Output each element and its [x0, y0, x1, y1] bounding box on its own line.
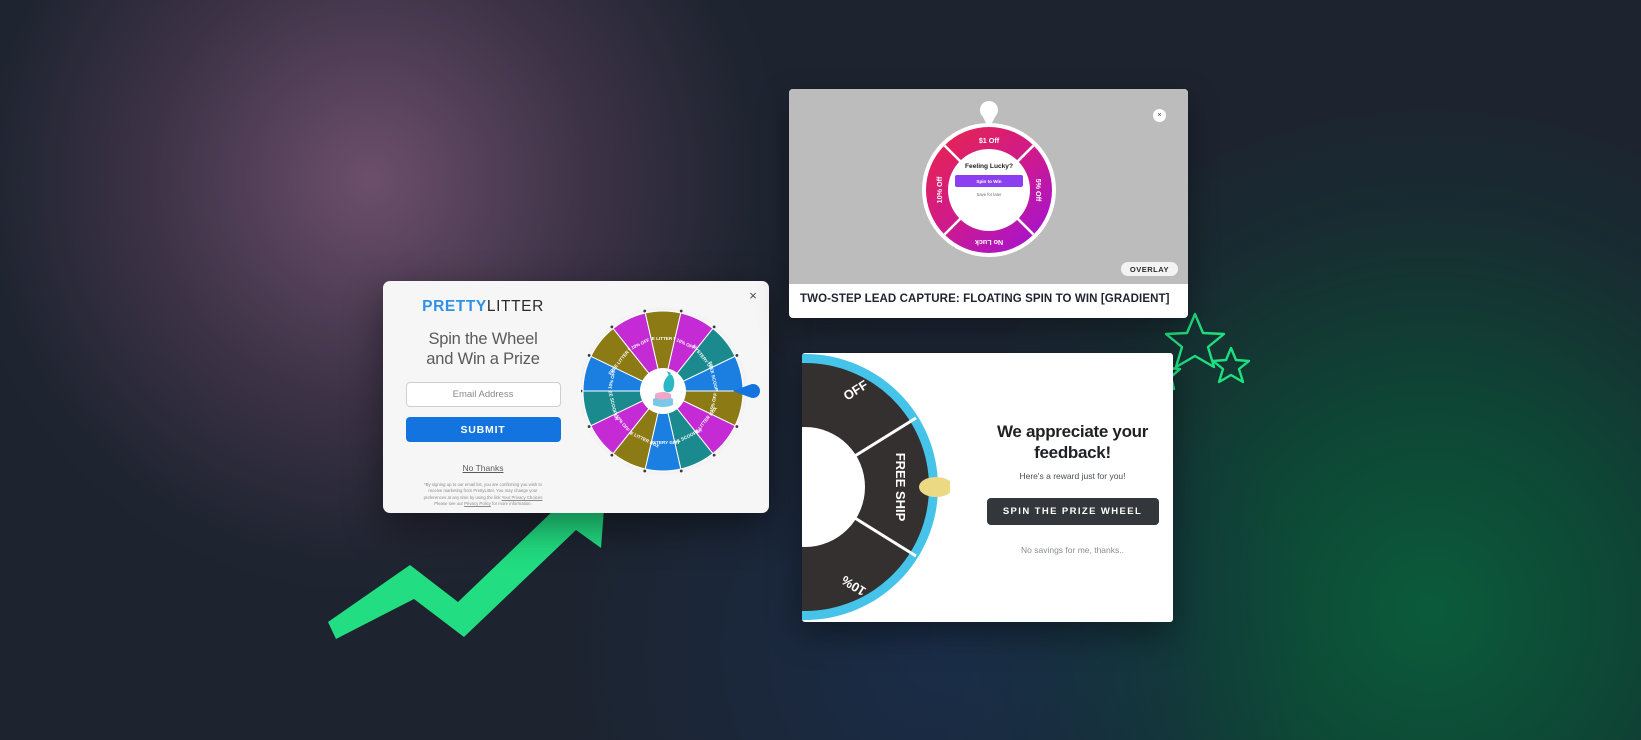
heading-line-1: Spin the Wheel — [397, 329, 569, 349]
wheel-rim-dot — [735, 354, 738, 357]
logo-text-pretty: PRETTY — [422, 298, 487, 315]
privacy-policy-link[interactable]: Privacy Policy — [464, 501, 491, 506]
fine-print: *By signing up to our email list, you ar… — [397, 482, 569, 508]
privacy-choices-link[interactable]: Your Privacy Choices — [502, 495, 543, 500]
feedback-subtext: Here's a reward just for you! — [1019, 471, 1125, 481]
prettylitter-modal-left: PRETTYLITTER Spin the Wheel and Win a Pr… — [383, 281, 583, 513]
fine-print-text-4: Please see our — [434, 501, 463, 506]
save-for-later-link[interactable]: Save for later — [955, 192, 1023, 197]
wheel-rim-dot — [588, 425, 591, 428]
email-field[interactable] — [406, 382, 561, 407]
wheel-rim-dot — [735, 425, 738, 428]
feedback-heading-line-2: feedback! — [997, 442, 1148, 463]
spin-to-win-button[interactable]: Spin to Win — [955, 175, 1023, 187]
wheel-rim-dot — [588, 354, 591, 357]
svg-text:FREE SHIP: FREE SHIP — [893, 453, 908, 522]
fine-print-text-5: for more information. — [492, 501, 532, 506]
wheel-rim-dot — [713, 325, 716, 328]
wheel-rim-dot — [680, 310, 683, 313]
close-icon[interactable]: × — [1153, 109, 1166, 122]
prettylitter-modal: × PRETTYLITTER Spin the Wheel and Win a … — [383, 281, 769, 513]
svg-text:$1 Off: $1 Off — [979, 136, 1000, 145]
feedback-decline-link[interactable]: No savings for me, thanks.. — [1021, 545, 1124, 555]
overlay-canvas: × — [789, 89, 1188, 284]
feedback-modal: OFF FREE SHIP 10% We appreciate your fee… — [802, 353, 1173, 622]
wheel-rim-dot — [643, 470, 646, 473]
feedback-heading-line-1: We appreciate your — [997, 421, 1148, 442]
svg-text:5% Off: 5% Off — [1034, 179, 1043, 202]
wheel-hub-title: Feeling Lucky? — [955, 163, 1023, 170]
svg-text:10% Off: 10% Off — [935, 176, 944, 203]
prettylitter-prize-wheel[interactable]: FREE LITTER BOX10% OFFMYSTERY GIFTFREE S… — [581, 281, 769, 513]
wheel-rim-dot — [680, 470, 683, 473]
screenshot-stage: × PRETTYLITTER Spin the Wheel and Win a … — [0, 0, 1641, 740]
status-badge: OVERLAY — [1121, 262, 1178, 276]
feedback-heading: We appreciate your feedback! — [997, 421, 1148, 463]
wheel-rim-dot — [713, 454, 716, 457]
wheel-rim-dot — [643, 310, 646, 313]
logo-text-litter: LITTER — [487, 298, 544, 315]
overlay-card-title: TWO-STEP LEAD CAPTURE: FLOATING SPIN TO … — [789, 284, 1188, 314]
gradient-prize-wheel[interactable]: $1 Off 5% Off No Luck 10% Off Feeling Lu… — [915, 95, 1063, 260]
overlay-preview-card[interactable]: × — [789, 89, 1188, 318]
fine-print-text-3: preferences at any time by using the lin… — [424, 495, 501, 500]
fine-print-line-4: Please see our Privacy Policy for more i… — [403, 501, 563, 507]
feedback-modal-content: We appreciate your feedback! Here's a re… — [972, 353, 1173, 622]
wheel-rim-dot — [610, 325, 613, 328]
page-title: Spin the Wheel and Win a Prize — [397, 329, 569, 369]
svg-text:No Luck: No Luck — [975, 238, 1003, 247]
submit-button[interactable]: SUBMIT — [406, 417, 561, 442]
prettylitter-logo: PRETTYLITTER — [397, 298, 569, 316]
no-thanks-link[interactable]: No Thanks — [397, 463, 569, 473]
feedback-prize-wheel[interactable]: OFF FREE SHIP 10% — [802, 353, 950, 622]
heading-line-2: and Win a Prize — [397, 349, 569, 369]
spin-the-prize-wheel-button[interactable]: SPIN THE PRIZE WHEEL — [987, 498, 1159, 525]
wheel-rim-dot — [610, 454, 613, 457]
